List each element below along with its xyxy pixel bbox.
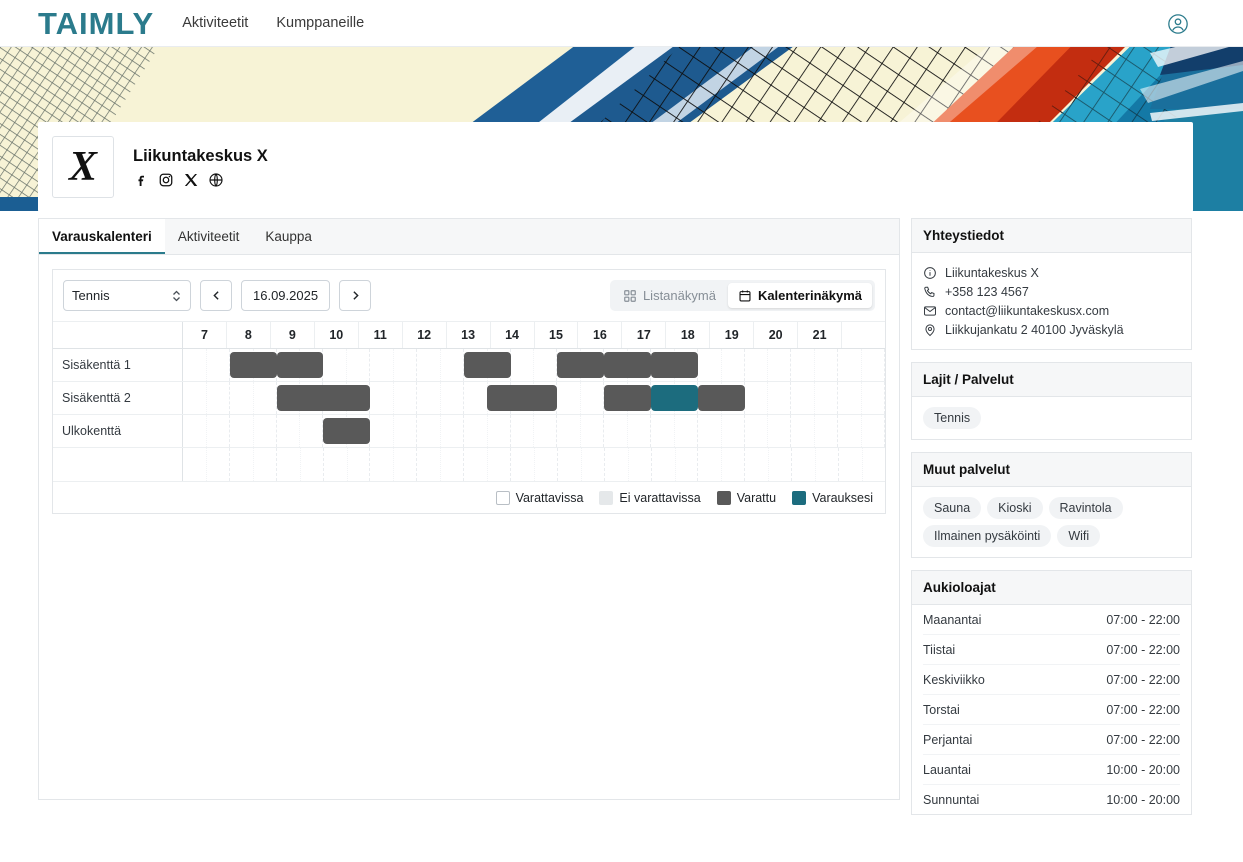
list-view-label: Listanäkymä (643, 288, 716, 303)
time-slot[interactable] (792, 448, 839, 481)
sport-select-value: Tennis (72, 288, 110, 303)
other-services-body: SaunaKioskiRavintolaIlmainen pysäköintiW… (912, 487, 1191, 557)
legend-swatch-free (496, 491, 510, 505)
resource-label: Ulkokenttä (53, 415, 183, 447)
booking-block-booked[interactable] (557, 352, 604, 378)
contact-row-name: Liikuntakeskus X (923, 263, 1180, 282)
opening-hours-body: Maanantai07:00 - 22:00Tiistai07:00 - 22:… (912, 605, 1191, 814)
hour-header-17: 17 (622, 322, 666, 348)
info-icon (923, 266, 937, 280)
time-slot[interactable] (745, 448, 792, 481)
venue-logo-glyph-x: X (56, 140, 110, 194)
hour-header-19: 19 (710, 322, 754, 348)
legend-label-unavailable: Ei varattavissa (619, 491, 700, 505)
chevron-right-icon (349, 289, 362, 302)
contact-phone-value[interactable]: +358 123 4567 (945, 285, 1029, 299)
calendar-view-label: Kalenterinäkymä (758, 288, 862, 303)
time-slot[interactable] (605, 448, 652, 481)
other-services-title: Muut palvelut (912, 453, 1191, 487)
opening-hours-day: Keskiviikko (923, 673, 985, 687)
date-value: 16.09.2025 (253, 288, 318, 303)
calendar-hour-header: 789101112131415161718192021 (53, 322, 885, 349)
social-links (133, 172, 268, 188)
nav-link-kumppaneille[interactable]: Kumppaneille (276, 15, 364, 31)
opening-hours-time: 07:00 - 22:00 (1106, 673, 1180, 687)
main-nav-links: Aktiviteetit Kumppaneille (182, 15, 364, 31)
tab-aktiviteetit[interactable]: Aktiviteetit (165, 219, 253, 254)
calendar-row-empty (53, 448, 885, 481)
sport-select[interactable]: Tennis (63, 280, 191, 311)
venue-logo: X (52, 136, 114, 198)
hour-header-16: 16 (578, 322, 622, 348)
next-day-button[interactable] (339, 280, 371, 311)
instagram-icon[interactable] (158, 172, 174, 188)
time-slot[interactable] (370, 448, 417, 481)
grid-icon (623, 289, 637, 303)
venue-meta: Liikuntakeskus X (133, 147, 268, 188)
other-services-panel: Muut palvelut SaunaKioskiRavintolaIlmain… (911, 452, 1192, 558)
time-slot[interactable] (417, 448, 464, 481)
contact-panel-body: Liikuntakeskus X +358 123 4567 contact@l… (912, 253, 1191, 349)
opening-hours-row: Maanantai07:00 - 22:00 (923, 605, 1180, 635)
resource-track (183, 349, 885, 381)
page-title: Liikuntakeskus X (133, 147, 268, 166)
booking-block-booked[interactable] (604, 385, 651, 411)
opening-hours-row: Lauantai10:00 - 20:00 (923, 755, 1180, 785)
globe-icon[interactable] (208, 172, 224, 188)
chevron-left-icon (210, 289, 223, 302)
booking-blocks (183, 415, 885, 447)
phone-icon (923, 285, 937, 299)
legend-label-mine: Varauksesi (812, 491, 873, 505)
taimly-logo[interactable]: TAIMLY (38, 8, 154, 39)
calendar-panel: Tennis 16.09.2025 Lis (52, 269, 886, 514)
tab-varauskalenteri[interactable]: Varauskalenteri (39, 219, 165, 254)
opening-hours-row: Perjantai07:00 - 22:00 (923, 725, 1180, 755)
booking-block-booked[interactable] (487, 385, 557, 411)
opening-hours-time: 07:00 - 22:00 (1106, 703, 1180, 717)
other-services-chip-list: SaunaKioskiRavintolaIlmainen pysäköintiW… (923, 497, 1180, 547)
calendar-grid: 789101112131415161718192021 Sisäkenttä 1… (53, 322, 885, 513)
calendar-row: Sisäkenttä 1 (53, 349, 885, 382)
svg-text:X: X (67, 144, 98, 190)
hour-header-9: 9 (271, 322, 315, 348)
hour-header-15: 15 (535, 322, 579, 348)
hour-header-spacer (842, 322, 885, 348)
booking-block-booked[interactable] (604, 352, 651, 378)
service-chip: Wifi (1057, 525, 1100, 547)
date-display[interactable]: 16.09.2025 (241, 280, 330, 311)
resource-label: Sisäkenttä 2 (53, 382, 183, 414)
hour-header-10: 10 (315, 322, 359, 348)
contact-address-value: Liikkujankatu 2 40100 Jyväskylä (945, 323, 1124, 337)
resource-track (183, 382, 885, 414)
nav-link-aktiviteetit[interactable]: Aktiviteetit (182, 15, 248, 31)
hour-header-8: 8 (227, 322, 271, 348)
legend-item-ei-varattavissa: Ei varattavissa (599, 491, 700, 505)
chevron-updown-icon (171, 289, 182, 303)
opening-hours-time: 10:00 - 20:00 (1106, 763, 1180, 777)
time-slot[interactable] (183, 448, 230, 481)
opening-hours-title: Aukioloajat (912, 571, 1191, 605)
service-chip: Ilmainen pysäköinti (923, 525, 1051, 547)
hour-header-12: 12 (403, 322, 447, 348)
sports-panel: Lajit / Palvelut Tennis (911, 362, 1192, 440)
legend-item-varattu: Varattu (717, 491, 776, 505)
legend-item-varattavissa: Varattavissa (496, 491, 584, 505)
hour-header-7: 7 (183, 322, 227, 348)
opening-hours-row: Torstai07:00 - 22:00 (923, 695, 1180, 725)
opening-hours-day: Lauantai (923, 763, 971, 777)
opening-hours-day: Sunnuntai (923, 793, 979, 807)
time-slot[interactable] (652, 448, 699, 481)
grid-corner (53, 322, 183, 348)
booking-block-booked[interactable] (277, 385, 371, 411)
x-twitter-icon[interactable] (183, 172, 199, 188)
time-slot[interactable] (558, 448, 605, 481)
time-slot[interactable] (277, 448, 324, 481)
resource-label: Sisäkenttä 1 (53, 349, 183, 381)
opening-hours-row: Sunnuntai10:00 - 20:00 (923, 785, 1180, 814)
hour-header-20: 20 (754, 322, 798, 348)
calendar-icon (738, 289, 752, 303)
service-chip: Ravintola (1049, 497, 1123, 519)
calendar-legend: Varattavissa Ei varattavissa Varattu Var… (53, 481, 885, 513)
top-navigation-bar: TAIMLY Aktiviteetit Kumppaneille (0, 0, 1243, 47)
envelope-icon (923, 304, 937, 318)
tab-kauppa[interactable]: Kauppa (252, 219, 325, 254)
opening-hours-day: Maanantai (923, 613, 981, 627)
view-toggle-group: Listanäkymä Kalenterinäkymä (610, 280, 875, 311)
hour-header-18: 18 (666, 322, 710, 348)
legend-swatch-booked (717, 491, 731, 505)
time-slot[interactable] (464, 448, 511, 481)
hour-header-21: 21 (798, 322, 842, 348)
booking-block-booked[interactable] (464, 352, 511, 378)
calendar-row: Sisäkenttä 2 (53, 382, 885, 415)
info-sidebar: Yhteystiedot Liikuntakeskus X +358 123 4… (911, 218, 1192, 827)
booking-block-booked[interactable] (323, 418, 370, 444)
opening-hours-time: 07:00 - 22:00 (1106, 733, 1180, 747)
opening-hours-day: Perjantai (923, 733, 972, 747)
booking-block-booked[interactable] (698, 385, 745, 411)
time-slot[interactable] (511, 448, 558, 481)
sports-chip-list: Tennis (923, 407, 1180, 429)
contact-name-value: Liikuntakeskus X (945, 266, 1039, 280)
sports-panel-body: Tennis (912, 397, 1191, 439)
sport-chip: Tennis (923, 407, 981, 429)
time-slot[interactable] (839, 448, 885, 481)
opening-hours-day: Tiistai (923, 643, 955, 657)
contact-email-value[interactable]: contact@liikuntakeskusx.com (945, 304, 1109, 318)
facebook-icon[interactable] (133, 172, 149, 188)
contact-panel: Yhteystiedot Liikuntakeskus X +358 123 4… (911, 218, 1192, 350)
legend-swatch-unavailable (599, 491, 613, 505)
booking-block-mine[interactable] (651, 385, 698, 411)
opening-hours-panel: Aukioloajat Maanantai07:00 - 22:00Tiista… (911, 570, 1192, 815)
booking-block-booked[interactable] (277, 352, 324, 378)
list-view-button[interactable]: Listanäkymä (613, 283, 726, 308)
legend-item-varauksesi: Varauksesi (792, 491, 873, 505)
booking-blocks (183, 349, 885, 381)
opening-hours-time: 07:00 - 22:00 (1106, 613, 1180, 627)
contact-row-email: contact@liikuntakeskusx.com (923, 301, 1180, 320)
service-chip: Kioski (987, 497, 1042, 519)
contact-panel-title: Yhteystiedot (912, 219, 1191, 253)
service-chip: Sauna (923, 497, 981, 519)
hour-header-11: 11 (359, 322, 403, 348)
resource-track (183, 415, 885, 447)
resource-label-empty (53, 448, 183, 481)
sports-panel-title: Lajit / Palvelut (912, 363, 1191, 397)
calendar-toolbar: Tennis 16.09.2025 Lis (53, 270, 885, 322)
location-pin-icon (923, 323, 937, 337)
prev-day-button[interactable] (200, 280, 232, 311)
opening-hours-day: Torstai (923, 703, 960, 717)
contact-row-address: Liikkujankatu 2 40100 Jyväskylä (923, 320, 1180, 339)
time-slot[interactable] (324, 448, 371, 481)
booking-blocks (183, 382, 885, 414)
opening-hours-row: Tiistai07:00 - 22:00 (923, 635, 1180, 665)
calendar-view-button[interactable]: Kalenterinäkymä (728, 283, 872, 308)
booking-block-booked[interactable] (651, 352, 698, 378)
time-slot[interactable] (698, 448, 745, 481)
user-circle-icon[interactable] (1167, 13, 1189, 35)
resource-track-empty (183, 448, 885, 481)
venue-header-card: X Liikuntakeskus X (38, 122, 1193, 212)
calendar-rows: Sisäkenttä 1Sisäkenttä 2Ulkokenttä (53, 349, 885, 481)
hour-header-13: 13 (447, 322, 491, 348)
legend-label-booked: Varattu (737, 491, 776, 505)
calendar-row: Ulkokenttä (53, 415, 885, 448)
contact-row-phone: +358 123 4567 (923, 282, 1180, 301)
opening-hours-time: 07:00 - 22:00 (1106, 643, 1180, 657)
opening-hours-row: Keskiviikko07:00 - 22:00 (923, 665, 1180, 695)
panel-tabs: Varauskalenteri Aktiviteetit Kauppa (39, 219, 899, 255)
legend-swatch-mine (792, 491, 806, 505)
hour-header-14: 14 (491, 322, 535, 348)
opening-hours-time: 10:00 - 20:00 (1106, 793, 1180, 807)
legend-label-free: Varattavissa (516, 491, 584, 505)
booking-panel: Varauskalenteri Aktiviteetit Kauppa Tenn… (38, 218, 900, 800)
booking-block-booked[interactable] (230, 352, 277, 378)
time-slot[interactable] (230, 448, 277, 481)
